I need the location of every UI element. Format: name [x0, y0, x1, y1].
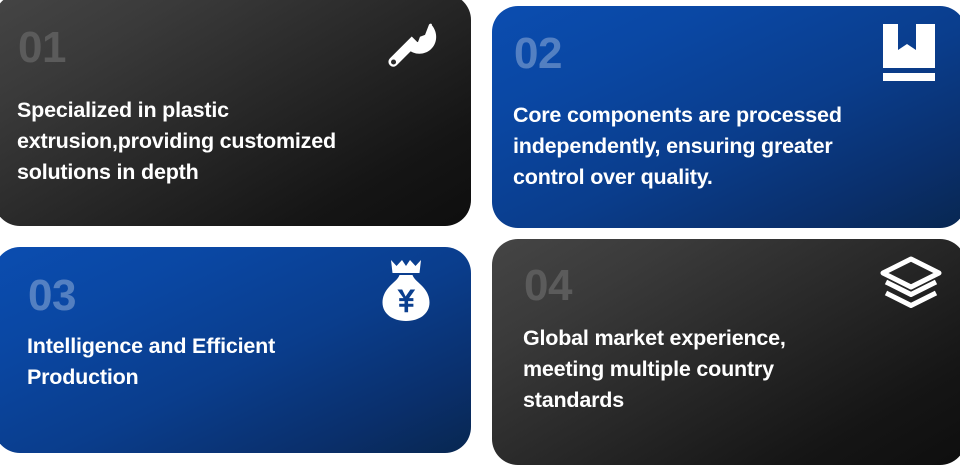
feature-card-04[interactable]: 04 Global market experience, meeting mul… [492, 239, 960, 465]
book-bookmark-icon [881, 24, 937, 84]
card-inner: 02 Core components are processed indepen… [492, 6, 960, 228]
card-description: Global market experience, meeting multip… [523, 323, 933, 416]
card-description: Core components are processed independen… [513, 100, 960, 193]
feature-card-01[interactable]: 01 Specialized in plastic extrusion,prov… [0, 0, 471, 226]
card-inner: 01 Specialized in plastic extrusion,prov… [0, 0, 471, 226]
feature-card-03[interactable]: 03 Intelligence and Efficient Production [0, 247, 471, 453]
card-number: 01 [18, 26, 66, 70]
card-number: 03 [28, 274, 76, 318]
card-description: Specialized in plastic extrusion,providi… [17, 95, 437, 188]
feature-card-02[interactable]: 02 Core components are processed indepen… [492, 6, 960, 228]
card-number: 02 [514, 32, 562, 76]
card-description: Intelligence and Efficient Production [27, 331, 427, 393]
card-inner: 04 Global market experience, meeting mul… [492, 239, 960, 465]
card-number: 04 [524, 264, 572, 308]
layers-stack-icon [879, 256, 943, 314]
money-bag-yen-icon [375, 258, 437, 324]
feature-card-grid: 01 Specialized in plastic extrusion,prov… [0, 0, 960, 459]
card-inner: 03 Intelligence and Efficient Production [0, 247, 471, 453]
wrench-icon [379, 18, 441, 80]
